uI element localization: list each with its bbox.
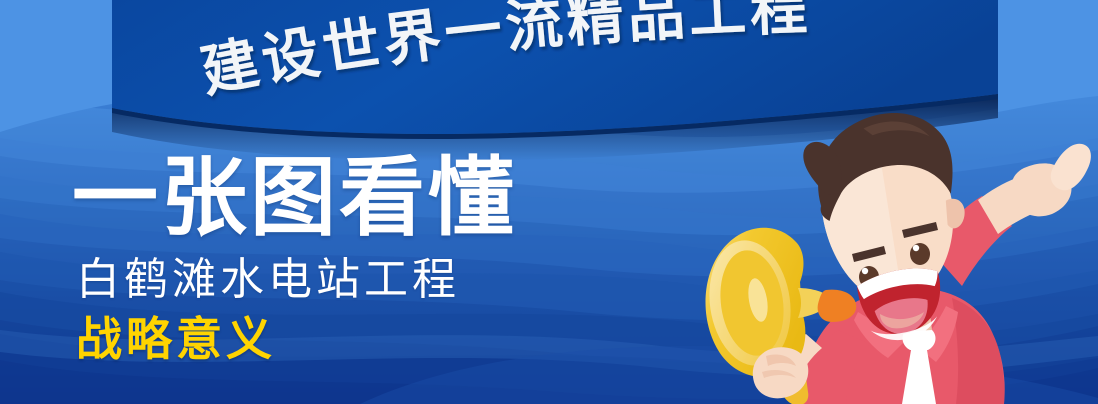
tagline-highlight: 战略意义 [76,312,712,366]
headline-group: 一张图看懂 白鹤滩水电站工程 战略意义 [72,150,712,366]
promo-banner: 建设世界一流精品工程 一张图看懂 白鹤滩水电站工程 战略意义 [0,0,1098,404]
project-subtitle: 白鹤滩水电站工程 [76,252,712,308]
index-finger [1051,144,1091,191]
eye-right [910,243,930,265]
page-title: 一张图看懂 [72,150,712,246]
